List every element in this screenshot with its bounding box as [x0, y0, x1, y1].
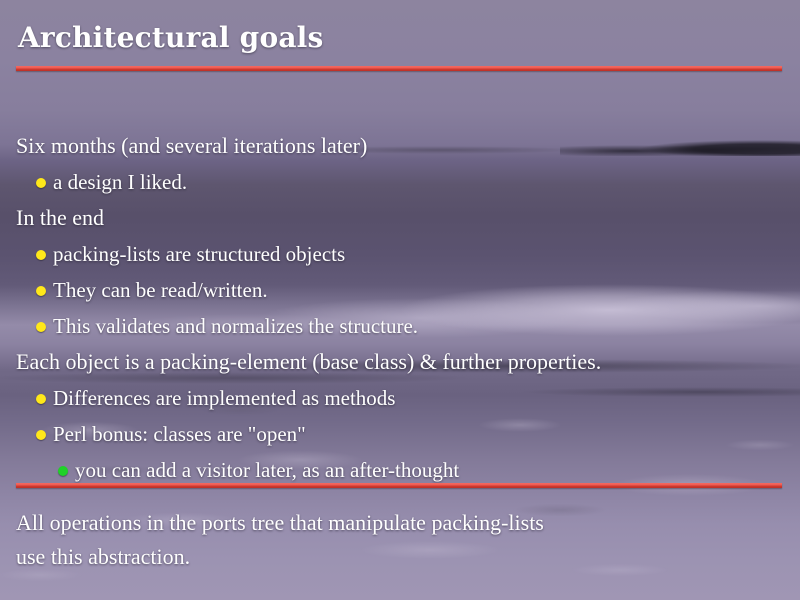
bullet-yellow-icon [36, 286, 46, 296]
body-line-text: Each object is a packing-element (base c… [16, 344, 601, 380]
bullet-green-icon [58, 466, 68, 476]
body-line: Each object is a packing-element (base c… [0, 344, 800, 380]
footer-line: All operations in the ports tree that ma… [0, 506, 800, 540]
footer-line: use this abstraction. [0, 540, 800, 574]
bullet-yellow-icon [36, 430, 46, 440]
presentation-slide: Architectural goals Six months (and seve… [0, 0, 800, 600]
body-line: Six months (and several iterations later… [0, 128, 800, 164]
slide-footer: All operations in the ports tree that ma… [0, 506, 800, 574]
bullet-item: They can be read/written. [0, 272, 800, 308]
body-line-text: packing-lists are structured objects [53, 236, 345, 272]
bullet-item: This validates and normalizes the struct… [0, 308, 800, 344]
body-line-text: Perl bonus: classes are "open" [53, 416, 306, 452]
bullet-yellow-icon [36, 178, 46, 188]
slide-title: Architectural goals [18, 21, 323, 55]
slide-content: Architectural goals Six months (and seve… [0, 0, 800, 600]
body-line-text: In the end [16, 200, 104, 236]
body-line-text: Six months (and several iterations later… [16, 128, 367, 164]
bullet-item: packing-lists are structured objects [0, 236, 800, 272]
slide-body: Six months (and several iterations later… [0, 128, 800, 488]
title-rule [16, 66, 782, 71]
body-line-text: a design I liked. [53, 164, 187, 200]
bullet-item: Differences are implemented as methods [0, 380, 800, 416]
bullet-yellow-icon [36, 394, 46, 404]
bullet-yellow-icon [36, 322, 46, 332]
body-line-text: They can be read/written. [53, 272, 268, 308]
body-line-text: This validates and normalizes the struct… [53, 308, 418, 344]
bullet-item: Perl bonus: classes are "open" [0, 416, 800, 452]
bullet-yellow-icon [36, 250, 46, 260]
bullet-item: a design I liked. [0, 164, 800, 200]
body-line-text: Differences are implemented as methods [53, 380, 395, 416]
footer-rule [16, 483, 782, 488]
body-line: In the end [0, 200, 800, 236]
